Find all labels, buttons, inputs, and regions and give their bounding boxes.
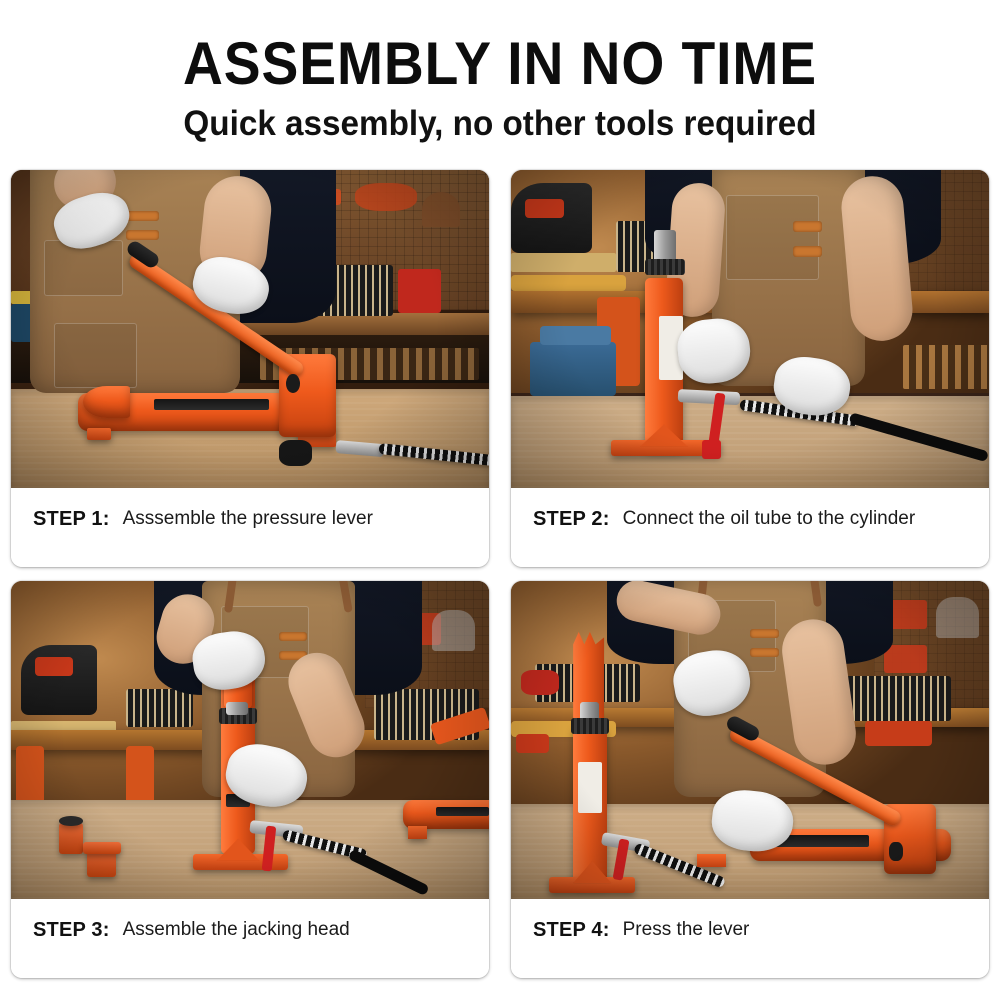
step-label-1: STEP 1:	[33, 508, 110, 531]
step-label-3: STEP 3:	[33, 919, 110, 942]
step-label-4: STEP 4:	[533, 919, 610, 942]
step-card-4[interactable]: STEP 4: Press the lever	[511, 581, 989, 978]
page-subtitle: Quick assembly, no other tools required	[25, 104, 975, 144]
step-text-3: Assemble the jacking head	[123, 919, 350, 941]
step-photo-3	[11, 581, 489, 899]
step-photo-1	[11, 170, 489, 488]
step-label-2: STEP 2:	[533, 508, 610, 531]
step-caption-2: STEP 2: Connect the oil tube to the cyli…	[511, 488, 989, 567]
step-card-1[interactable]: STEP 1: Asssemble the pressure lever	[11, 170, 489, 567]
step-caption-4: STEP 4: Press the lever	[511, 899, 989, 978]
assembly-infographic: ASSEMBLY IN NO TIME Quick assembly, no o…	[0, 0, 1000, 1000]
step-caption-1: STEP 1: Asssemble the pressure lever	[11, 488, 489, 567]
step-text-2: Connect the oil tube to the cylinder	[623, 508, 916, 530]
step-text-4: Press the lever	[623, 919, 750, 941]
step-card-3[interactable]: STEP 3: Assemble the jacking head	[11, 581, 489, 978]
step-photo-2	[511, 170, 989, 488]
header: ASSEMBLY IN NO TIME Quick assembly, no o…	[0, 0, 1000, 144]
step-card-2[interactable]: STEP 2: Connect the oil tube to the cyli…	[511, 170, 989, 567]
step-caption-3: STEP 3: Assemble the jacking head	[11, 899, 489, 978]
steps-grid: STEP 1: Asssemble the pressure lever	[11, 170, 989, 978]
page-title: ASSEMBLY IN NO TIME	[40, 34, 960, 94]
step-photo-4	[511, 581, 989, 899]
step-text-1: Asssemble the pressure lever	[123, 508, 373, 530]
